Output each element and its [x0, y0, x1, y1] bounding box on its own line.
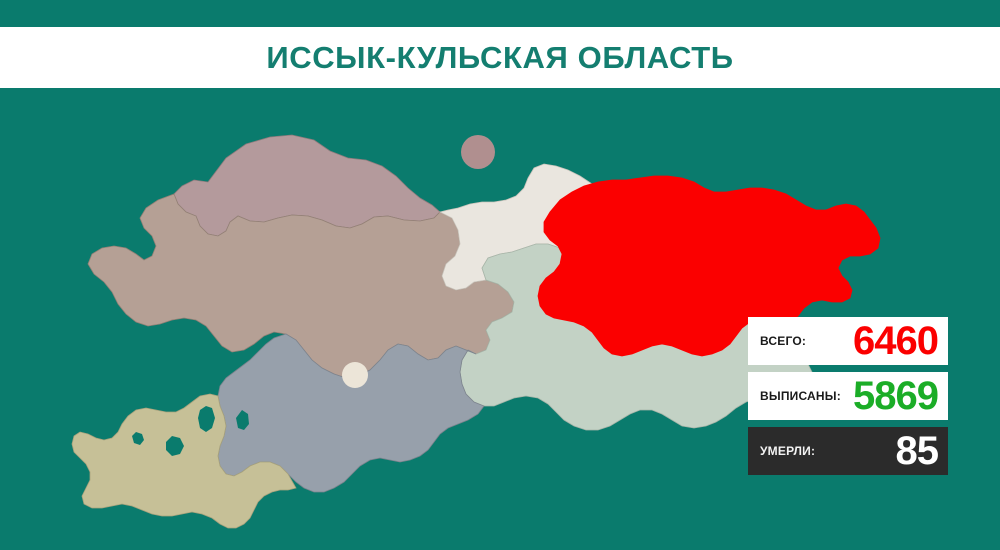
stat-row-total: ВСЕГО: 6460 [748, 317, 948, 365]
stat-label-recovered: ВЫПИСАНЫ: [760, 389, 841, 403]
stat-label-total: ВСЕГО: [760, 334, 806, 348]
page-title: ИССЫК-КУЛЬСКАЯ ОБЛАСТЬ [266, 42, 733, 73]
header-band: ИССЫК-КУЛЬСКАЯ ОБЛАСТЬ [0, 27, 1000, 88]
top-accent-strip [0, 0, 1000, 27]
stat-row-deaths: УМЕРЛИ: 85 [748, 427, 948, 475]
stat-value-recovered: 5869 [853, 376, 938, 416]
city-marker-osh[interactable] [342, 362, 368, 388]
city-marker-bishkek[interactable] [461, 135, 495, 169]
infographic-page: ИССЫК-КУЛЬСКАЯ ОБЛАСТЬ [0, 0, 1000, 550]
stat-label-deaths: УМЕРЛИ: [760, 444, 815, 458]
stat-row-recovered: ВЫПИСАНЫ: 5869 [748, 372, 948, 420]
stat-value-deaths: 85 [896, 431, 939, 471]
stat-value-total: 6460 [853, 321, 938, 361]
stats-panel: ВСЕГО: 6460 ВЫПИСАНЫ: 5869 УМЕРЛИ: 85 [748, 317, 948, 475]
